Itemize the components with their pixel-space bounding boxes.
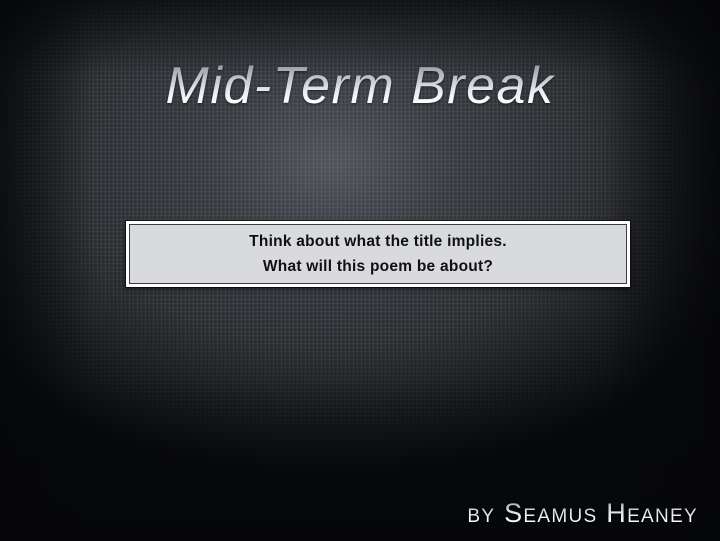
presentation-slide: Mid-Term Break Think about what the titl… [0,0,720,541]
content-text-box: Think about what the title implies. What… [126,221,630,287]
content-line-1: Think about what the title implies. [249,234,507,250]
author-attribution: by Seamus Heaney [467,498,698,529]
slide-title: Mid-Term Break [0,57,720,117]
content-line-2: What will this poem be about? [263,259,493,275]
